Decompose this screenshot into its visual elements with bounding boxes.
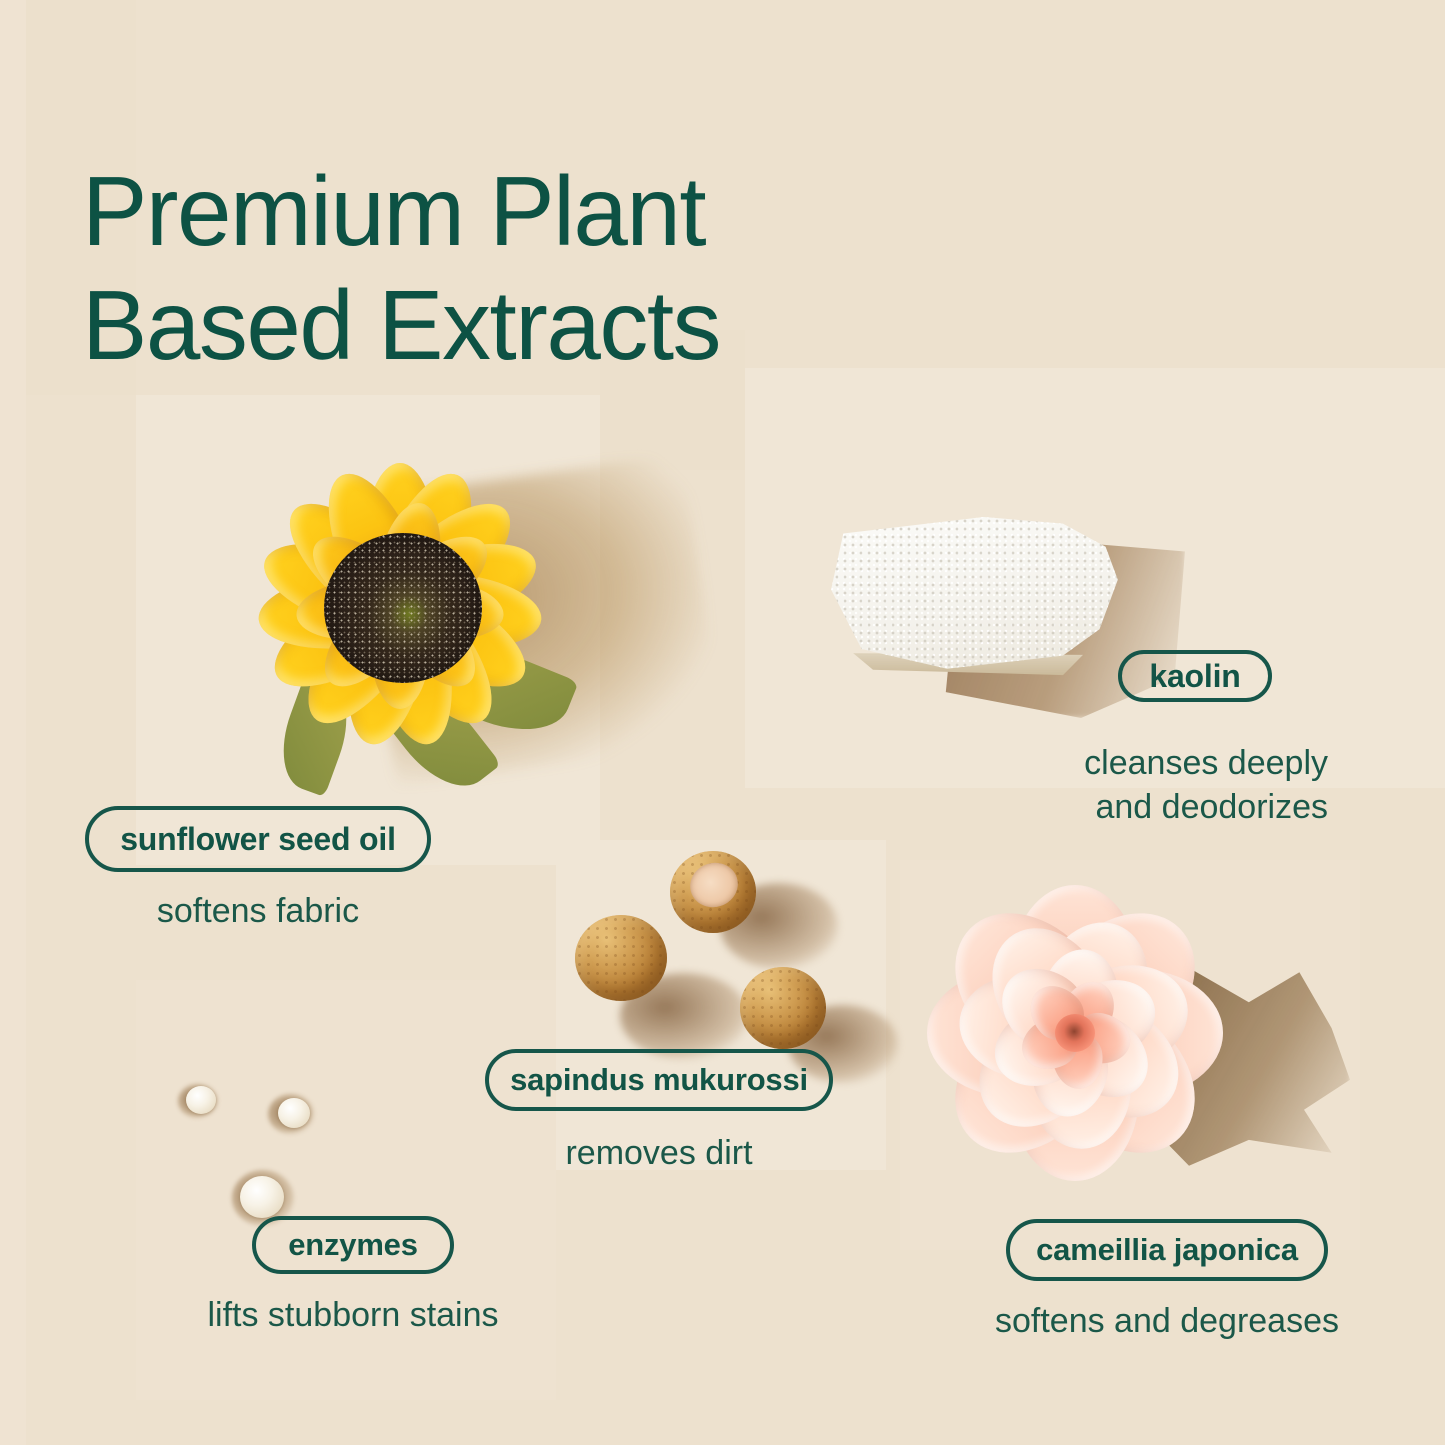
enzyme-droplet [278, 1098, 310, 1128]
pill-text: enzymes [288, 1227, 418, 1263]
caption-kaolin: cleanses deeply and deodorizes [940, 742, 1328, 829]
camellia-center [1055, 1014, 1095, 1052]
pill-label-enzymes[interactable]: enzymes [252, 1216, 454, 1274]
sunflower-photo [190, 405, 650, 855]
soapnut [575, 915, 667, 1001]
infographic-canvas: Premium Plant Based Extracts [0, 0, 1445, 1445]
pill-text: cameillia japonica [1036, 1232, 1298, 1268]
sunflower-seed-disc [324, 533, 482, 683]
camellia-photo [915, 875, 1335, 1220]
enzyme-droplet [186, 1086, 216, 1114]
background-tile [0, 0, 26, 1445]
pill-label-sunflower-seed-oil[interactable]: sunflower seed oil [85, 806, 431, 872]
camellia-bloom [920, 883, 1230, 1183]
caption-sunflower-seed-oil: softens fabric [85, 890, 431, 934]
pill-label-kaolin[interactable]: kaolin [1118, 650, 1272, 702]
kaolin-stone-photo [815, 485, 1215, 745]
sunflower-head [230, 435, 570, 775]
pill-label-sapindus-mukurossi[interactable]: sapindus mukurossi [485, 1049, 833, 1111]
pill-text: kaolin [1149, 658, 1240, 695]
soapnut [740, 967, 826, 1049]
caption-sapindus-mukurossi: removes dirt [485, 1132, 833, 1176]
pill-text: sunflower seed oil [120, 821, 396, 858]
page-title: Premium Plant Based Extracts [82, 154, 982, 383]
caption-cameillia-japonica: softens and degreases [956, 1300, 1378, 1344]
soapnut-photo [560, 845, 860, 1075]
pill-text: sapindus mukurossi [510, 1062, 808, 1098]
pill-label-cameillia-japonica[interactable]: cameillia japonica [1006, 1219, 1328, 1281]
enzyme-droplet [240, 1176, 284, 1218]
caption-enzymes: lifts stubborn stains [143, 1294, 563, 1338]
